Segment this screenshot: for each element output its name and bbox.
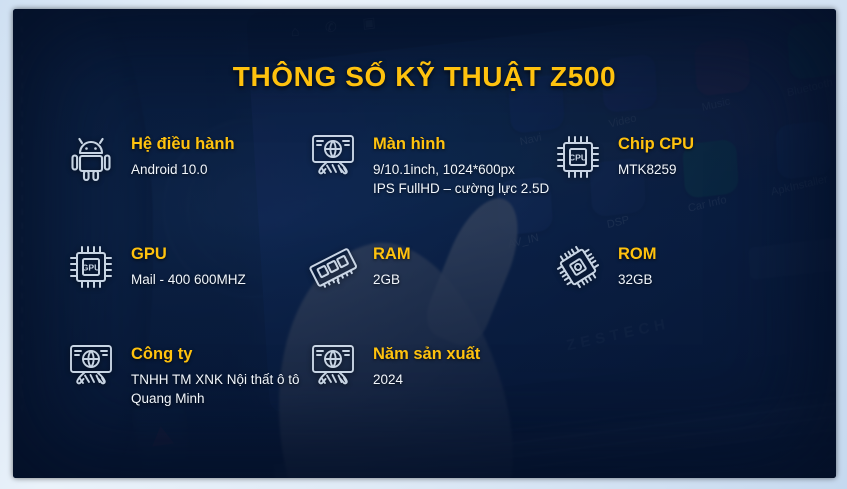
spec-item-display: Màn hình 9/10.1inch, 1024*600px IPS Full… [307, 131, 552, 241]
spec-value-line: IPS FullHD – cường lực 2.5D [373, 179, 549, 199]
spec-item-rom: ROM 32GB [552, 241, 792, 341]
spec-value: Mail - 400 600MHZ [131, 270, 246, 290]
rom-chip-icon [552, 241, 604, 293]
spec-item-cpu: CPU Chip CPU MTK8259 [552, 131, 792, 241]
spec-value-line: MTK8259 [618, 160, 694, 180]
spec-value: 32GB [618, 270, 657, 290]
spec-text: Công ty TNHH TM XNK Nội thất ô tô Quang … [131, 341, 300, 409]
spec-value-line: 2024 [373, 370, 480, 390]
spec-value-line: 9/10.1inch, 1024*600px [373, 160, 549, 180]
touch-screen-icon [307, 131, 359, 183]
svg-text:GPU: GPU [82, 263, 101, 273]
banner-stage: ⌂ ✆ ▣ ⚲ ᛒ ⏶ ▁▃▅ 11:45 Navi Video Music [13, 9, 836, 478]
spec-title: Năm sản xuất [373, 345, 480, 365]
spec-value-line: 32GB [618, 270, 657, 290]
spec-item-manufacture-year: Năm sản xuất 2024 [307, 341, 552, 441]
svg-text:CPU: CPU [569, 153, 587, 163]
spec-grid: Hệ điều hành Android 10.0 [65, 131, 818, 441]
spec-item-company: Công ty TNHH TM XNK Nội thất ô tô Quang … [65, 341, 307, 441]
spec-title: Hệ điều hành [131, 135, 235, 155]
touch-screen-icon [307, 341, 359, 393]
spec-text: Năm sản xuất 2024 [373, 341, 480, 389]
spec-title: Chip CPU [618, 135, 694, 155]
spec-row: Hệ điều hành Android 10.0 [65, 131, 818, 241]
spec-value: Android 10.0 [131, 160, 235, 180]
spec-text: ROM 32GB [618, 241, 657, 289]
android-robot-icon [65, 131, 117, 183]
touch-screen-icon [65, 341, 117, 393]
page-title: THÔNG SỐ KỸ THUẬT Z500 [13, 61, 836, 93]
spec-text: RAM 2GB [373, 241, 411, 289]
spec-text: Chip CPU MTK8259 [618, 131, 694, 179]
spec-text: Hệ điều hành Android 10.0 [131, 131, 235, 179]
spec-row: Công ty TNHH TM XNK Nội thất ô tô Quang … [65, 341, 818, 441]
cpu-chip-icon: CPU [552, 131, 604, 183]
spec-item-ram: RAM 2GB [307, 241, 552, 341]
spec-value: 2GB [373, 270, 411, 290]
spec-text: Màn hình 9/10.1inch, 1024*600px IPS Full… [373, 131, 549, 199]
spec-value: TNHH TM XNK Nội thất ô tô Quang Minh [131, 370, 300, 409]
spec-title: GPU [131, 245, 246, 265]
spec-text: GPU Mail - 400 600MHZ [131, 241, 246, 289]
gpu-chip-icon: GPU [65, 241, 117, 293]
spec-item-operating-system: Hệ điều hành Android 10.0 [65, 131, 307, 241]
spec-title: Công ty [131, 345, 300, 365]
spec-title: ROM [618, 245, 657, 265]
spec-value-line: Android 10.0 [131, 160, 235, 180]
image-frame: ⌂ ✆ ▣ ⚲ ᛒ ⏶ ▁▃▅ 11:45 Navi Video Music [0, 0, 847, 489]
spec-value-line: Quang Minh [131, 389, 300, 409]
spec-title: RAM [373, 245, 411, 265]
spec-row: GPU GPU Mail - 400 600MHZ [65, 241, 818, 341]
content-layer: THÔNG SỐ KỸ THUẬT Z500 [13, 9, 836, 478]
spec-value-line: Mail - 400 600MHZ [131, 270, 246, 290]
spec-value: 9/10.1inch, 1024*600px IPS FullHD – cườn… [373, 160, 549, 199]
ram-module-icon [307, 241, 359, 293]
spec-item-empty [552, 341, 792, 441]
spec-value-line: TNHH TM XNK Nội thất ô tô [131, 370, 300, 390]
spec-value-line: 2GB [373, 270, 411, 290]
spec-value: 2024 [373, 370, 480, 390]
spec-value: MTK8259 [618, 160, 694, 180]
spec-title: Màn hình [373, 135, 549, 155]
spec-item-gpu: GPU GPU Mail - 400 600MHZ [65, 241, 307, 341]
